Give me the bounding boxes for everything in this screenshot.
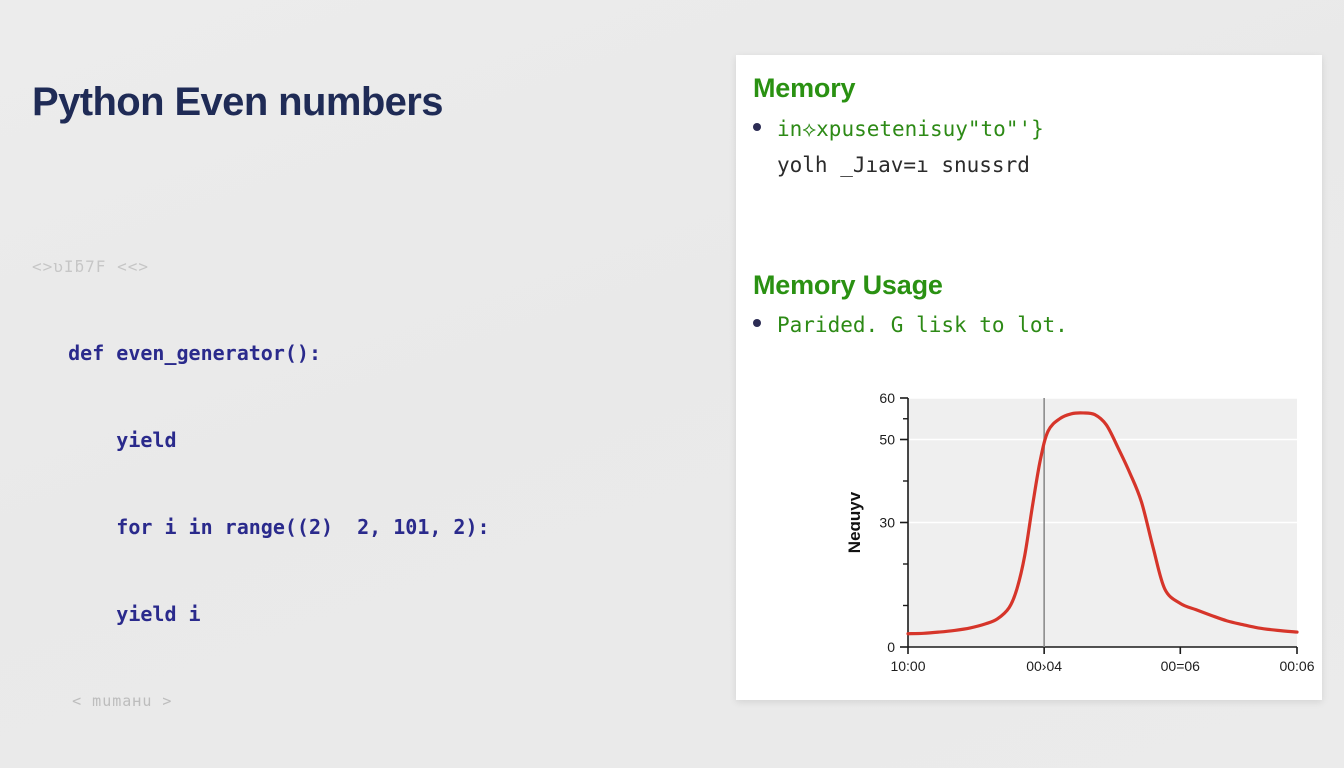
list-item: Parided. G lisk to lot.: [753, 307, 1303, 343]
y-tick-label: 30: [879, 515, 895, 531]
bullet-dot-icon: [753, 319, 761, 327]
x-tick-label: 00:06: [1279, 658, 1314, 674]
chart-svg: 030506010:0000›0400=0600:06Neɑuyv: [836, 385, 1306, 685]
memory-bullet-line-2: yolh _Jıav=ı snussrd: [777, 153, 1030, 177]
slide-canvas: Python Even numbers <>ʋIƃ7F <<> def even…: [0, 0, 1344, 768]
code-line: < mumaʜu >: [32, 687, 672, 716]
y-tick-label: 50: [879, 432, 895, 448]
y-tick-label: 0: [887, 639, 895, 655]
code-line: for i in range((2) 2, 101, 2):: [32, 513, 672, 542]
memory-usage-bullet-text: Parided. G lisk to lot.: [777, 307, 1303, 343]
memory-bullet-text: in⟡xpusetenisuy"to"'} yolh _Jıav=ı snuss…: [777, 111, 1303, 183]
code-line: def even_generator():: [32, 339, 672, 368]
left-panel: Python Even numbers <>ʋIƃ7F <<> def even…: [0, 0, 720, 768]
memory-usage-heading: Memory Usage: [753, 270, 943, 301]
code-block: <>ʋIƃ7F <<> def even_generator(): yield …: [32, 194, 672, 768]
page-title: Python Even numbers: [32, 80, 443, 125]
x-tick-label: 10:00: [890, 658, 925, 674]
memory-usage-chart: 030506010:0000›0400=0600:06Neɑuyv: [836, 385, 1306, 685]
memory-heading: Memory: [753, 73, 855, 104]
y-axis-title: Neɑuyv: [845, 491, 864, 553]
code-line: <>ʋIƃ7F <<>: [32, 252, 672, 281]
bullet-dot-icon: [753, 123, 761, 131]
memory-bullet-line-1: in⟡xpusetenisuy"to"'}: [777, 117, 1044, 141]
memory-usage-bullet-line: Parided. G lisk to lot.: [777, 313, 1068, 337]
x-tick-label: 00=06: [1161, 658, 1201, 674]
y-tick-label: 60: [879, 390, 895, 406]
code-line: yield: [32, 426, 672, 455]
info-card: Memory in⟡xpusetenisuy"to"'} yolh _Jıav=…: [736, 55, 1322, 700]
code-line: yield i: [32, 600, 672, 629]
x-tick-label: 00›04: [1026, 658, 1062, 674]
list-item: in⟡xpusetenisuy"to"'} yolh _Jıav=ı snuss…: [753, 111, 1303, 183]
